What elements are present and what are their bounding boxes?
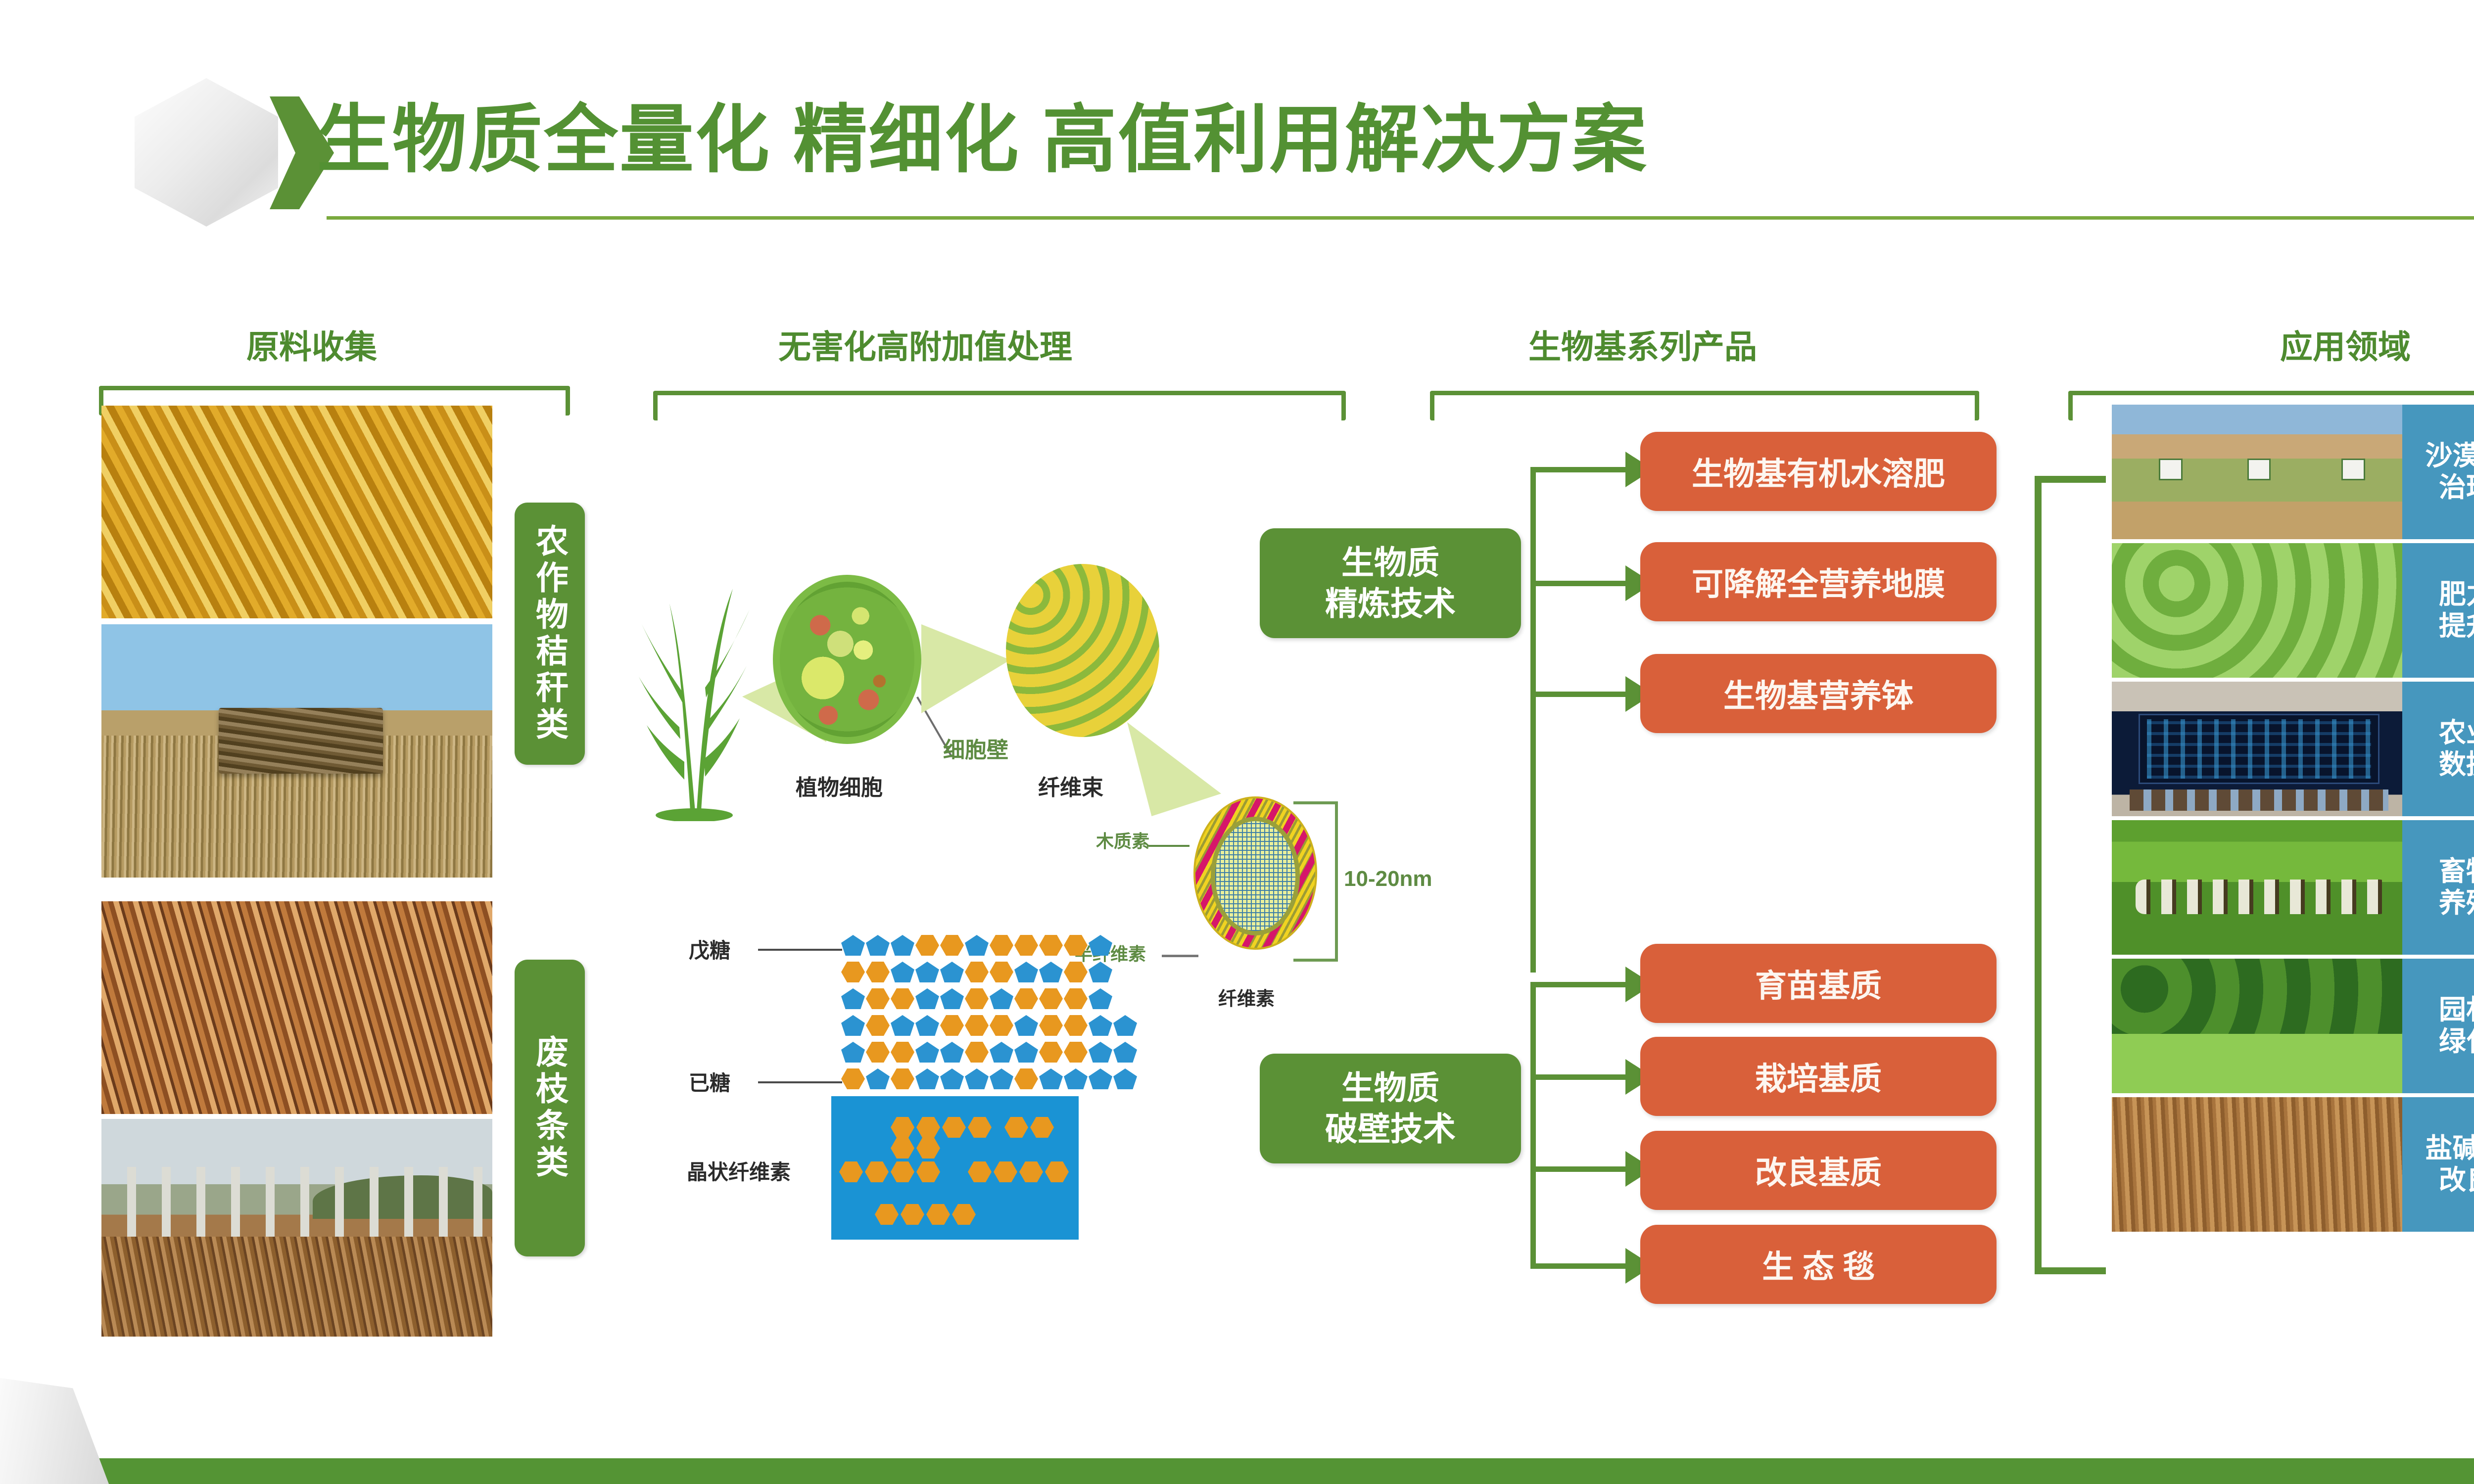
saline-alkali-land-photo bbox=[2112, 1097, 2406, 1232]
bracket-biobased-products bbox=[1430, 391, 1979, 420]
app-label-livestock-breeding[interactable]: 畜牧 养殖 bbox=[2402, 820, 2474, 955]
label-fiber-bundle: 纤维束 bbox=[1038, 770, 1103, 801]
straw-bale-field-photo bbox=[101, 624, 492, 878]
product-box-seedling-substrate[interactable]: 育苗基质 bbox=[1640, 944, 1997, 1023]
connector-refining-branch-2 bbox=[1530, 581, 1629, 586]
footer-corner-shape bbox=[0, 1375, 109, 1484]
fiber-bundle-illustration bbox=[1006, 564, 1159, 737]
app-livestock-line2: 养殖 bbox=[2439, 887, 2474, 919]
zoom-cone-cell-to-bundle bbox=[921, 624, 1010, 713]
app-label-desertification-control[interactable]: 沙漠化 治理 bbox=[2402, 405, 2474, 539]
tech-breaking-line2: 破壁技术 bbox=[1325, 1109, 1456, 1150]
sheep-grazing-photo bbox=[2112, 820, 2406, 955]
bracket-harmless-processing bbox=[653, 391, 1346, 420]
desert-control-photo bbox=[2112, 405, 2406, 539]
label-hexose: 已糖 bbox=[689, 1067, 730, 1097]
dimension-tick-top bbox=[1293, 801, 1338, 804]
app-greening-line2: 绿化 bbox=[2439, 1026, 2474, 1058]
product-box-nutrition-pot[interactable]: 生物基营养钵 bbox=[1640, 654, 1997, 733]
dimension-line-vertical bbox=[1335, 801, 1338, 962]
raw-tag-crop-straw: 农作物秸秆类 bbox=[515, 503, 585, 765]
app-saline-line1: 盐碱地 bbox=[2425, 1133, 2474, 1164]
title-underline-divider bbox=[327, 216, 2474, 220]
leader-line-hexose bbox=[758, 1081, 842, 1083]
label-crystalline-cellulose: 晶状纤维素 bbox=[687, 1156, 791, 1186]
label-lignin: 木质素 bbox=[1096, 827, 1149, 853]
app-desert-line2: 治理 bbox=[2425, 472, 2474, 504]
connector-breaking-branch-3 bbox=[1530, 1166, 1629, 1172]
tech-refining-line2: 精炼技术 bbox=[1325, 583, 1456, 624]
hexagon-logo-shape bbox=[135, 78, 278, 227]
app-greening-line1: 园林 bbox=[2439, 994, 2474, 1026]
app-saline-line2: 改良 bbox=[2425, 1164, 2474, 1196]
leader-line-pentose bbox=[758, 949, 842, 951]
app-fertility-line2: 提升 bbox=[2439, 610, 2474, 642]
product-box-cultivation-substrate[interactable]: 栽培基质 bbox=[1640, 1037, 1997, 1116]
connector-breaking-branch-4 bbox=[1530, 1263, 1629, 1269]
connector-breaking-spine bbox=[1530, 982, 1536, 1269]
fiber-cross-section-illustration bbox=[1193, 796, 1317, 950]
plant-cell-illustration bbox=[773, 575, 921, 744]
leader-line-hemicellulose bbox=[1162, 955, 1198, 957]
label-fiber-dimension: 10-20nm bbox=[1344, 867, 1432, 891]
tech-breaking-line1: 生物质 bbox=[1325, 1067, 1456, 1109]
product-box-ecological-blanket[interactable]: 生 态 毯 bbox=[1640, 1225, 1997, 1304]
cellulose-core bbox=[1215, 821, 1295, 931]
label-cellulose: 纤维素 bbox=[1218, 983, 1275, 1011]
app-data-line2: 数据 bbox=[2439, 749, 2474, 781]
connector-breaking-branch-2 bbox=[1530, 1074, 1629, 1080]
product-box-water-soluble-fertilizer[interactable]: 生物基有机水溶肥 bbox=[1640, 432, 1997, 511]
section-header-raw-material: 原料收集 bbox=[148, 321, 475, 368]
cabbage-field-photo bbox=[2112, 543, 2406, 678]
connector-breaking-branch-1 bbox=[1530, 982, 1629, 987]
landscape-greening-photo bbox=[2112, 959, 2406, 1093]
agriculture-data-center-photo bbox=[2112, 682, 2406, 816]
page-title: 生物质全量化 精细化 高值利用解决方案 bbox=[317, 96, 1900, 183]
tech-refining-line1: 生物质 bbox=[1325, 542, 1456, 583]
product-box-improvement-substrate[interactable]: 改良基质 bbox=[1640, 1131, 1997, 1210]
section-header-biobased-products: 生物基系列产品 bbox=[1425, 321, 1860, 368]
tech-box-refining[interactable]: 生物质 精炼技术 bbox=[1260, 528, 1521, 638]
raw-tag-waste-branches: 废枝条类 bbox=[515, 960, 585, 1256]
connector-refining-branch-1 bbox=[1530, 467, 1629, 472]
app-desert-line1: 沙漠化 bbox=[2425, 440, 2474, 472]
app-livestock-line1: 畜牧 bbox=[2439, 856, 2474, 887]
tech-box-cell-wall-breaking[interactable]: 生物质 破壁技术 bbox=[1260, 1054, 1521, 1163]
product-box-biodegradable-mulch-film[interactable]: 可降解全营养地膜 bbox=[1640, 542, 1997, 621]
bracket-applications-group bbox=[2035, 476, 2106, 1274]
infographic-canvas: 生物质全量化 精细化 高值利用解决方案 原料收集 无害化高附加值处理 生物基系列… bbox=[0, 0, 2474, 1484]
corn-straw-field-photo bbox=[101, 406, 492, 618]
connector-refining-spine bbox=[1530, 467, 1536, 973]
connector-refining-branch-3 bbox=[1530, 692, 1629, 697]
section-header-harmless-processing: 无害化高附加值处理 bbox=[678, 321, 1173, 368]
app-label-agriculture-data[interactable]: 农业 数据 bbox=[2402, 682, 2474, 816]
footer-green-band bbox=[99, 1458, 2474, 1484]
section-header-application-fields: 应用领域 bbox=[2192, 321, 2474, 368]
pruned-branches-photo bbox=[101, 901, 492, 1114]
app-label-landscape-greening[interactable]: 园林 绿化 bbox=[2402, 959, 2474, 1093]
app-label-fertility-improvement[interactable]: 肥力 提升 bbox=[2402, 543, 2474, 678]
zoom-cone-bundle-to-fiber bbox=[1127, 722, 1221, 816]
leader-line-lignin bbox=[1147, 845, 1189, 847]
app-fertility-line1: 肥力 bbox=[2439, 579, 2474, 610]
orchard-pruning-photo bbox=[101, 1119, 492, 1337]
crystalline-cellulose-panel bbox=[831, 1096, 1079, 1240]
dimension-tick-bottom bbox=[1293, 959, 1338, 962]
sugar-chain-illustration bbox=[841, 935, 1138, 1095]
app-data-line1: 农业 bbox=[2439, 717, 2474, 749]
label-plant-cell: 植物细胞 bbox=[796, 770, 883, 801]
label-cell-wall: 细胞壁 bbox=[943, 732, 1008, 764]
app-label-saline-alkali-improvement[interactable]: 盐碱地 改良 bbox=[2402, 1097, 2474, 1232]
label-pentose: 戊糖 bbox=[689, 934, 730, 964]
plant-illustration-icon bbox=[631, 544, 764, 821]
